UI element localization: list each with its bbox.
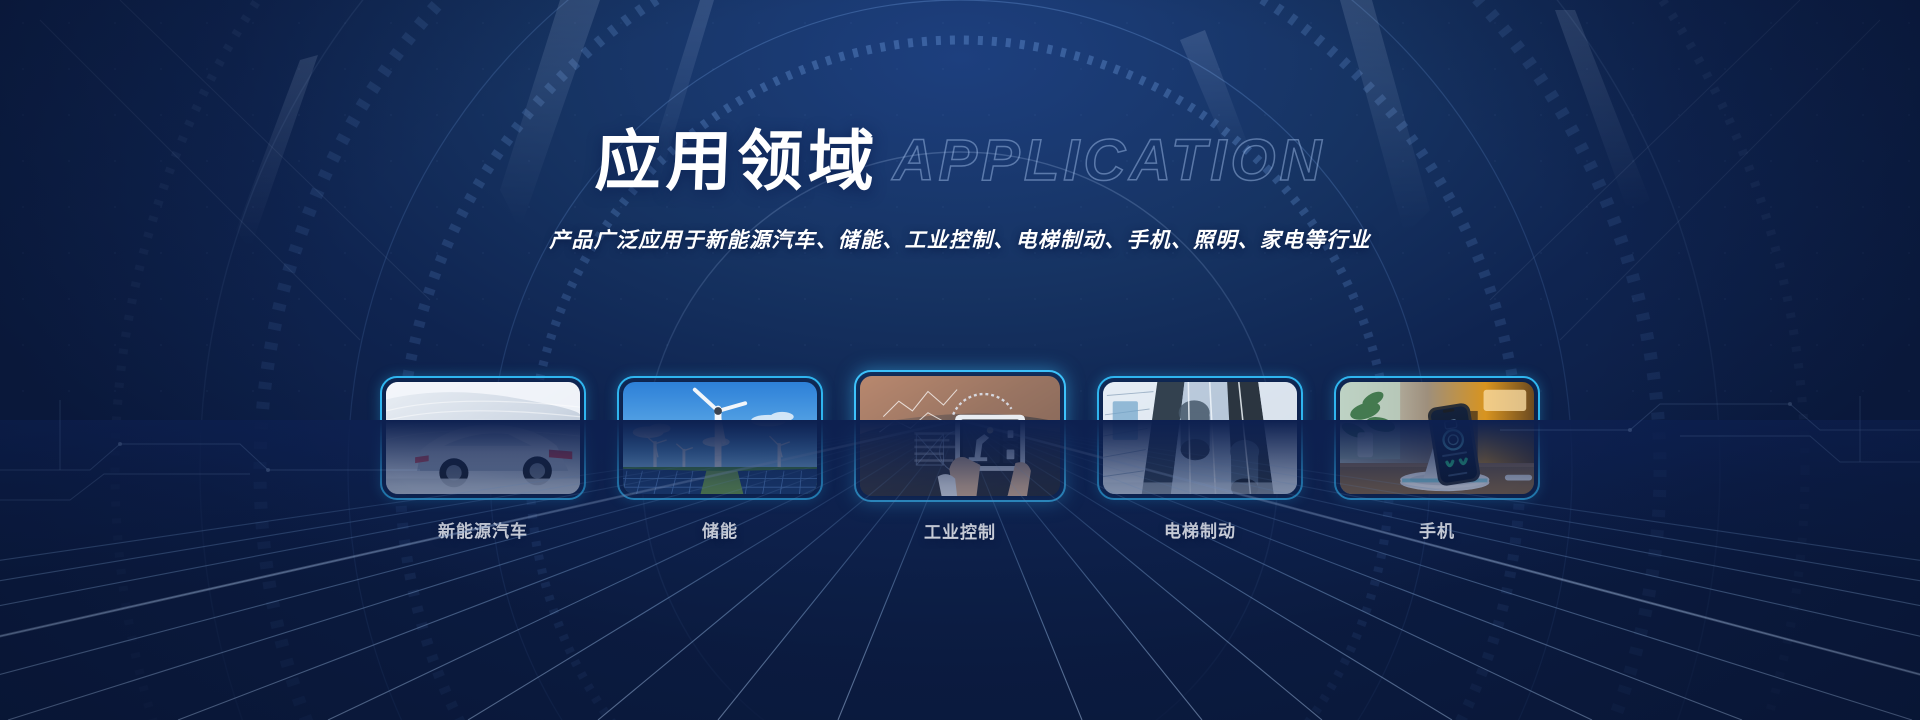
banner-subtitle: 产品广泛应用于新能源汽车、储能、工业控制、电梯制动、手机、照明、家电等行业 xyxy=(0,224,1920,254)
banner-header: 应用领域APPLICATION xyxy=(0,118,1920,204)
title-row: 应用领域APPLICATION xyxy=(595,118,1326,204)
page-title-english: APPLICATION xyxy=(893,118,1326,204)
page-title: 应用领域 xyxy=(593,118,880,204)
application-banner: 应用领域APPLICATION 产品广泛应用于新能源汽车、储能、工业控制、电梯制… xyxy=(0,0,1920,720)
perspective-floor-grid xyxy=(0,420,1920,720)
